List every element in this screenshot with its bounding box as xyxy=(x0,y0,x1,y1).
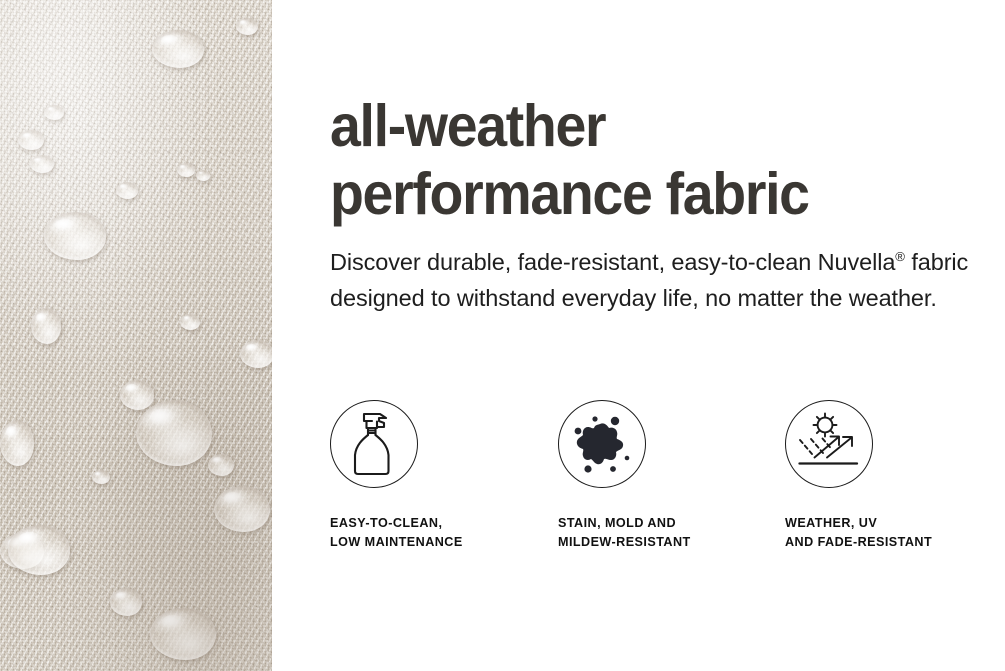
description-part-1: Discover durable, fade-resistant, easy-t… xyxy=(330,249,895,275)
promo-description: Discover durable, fade-resistant, easy-t… xyxy=(330,244,970,316)
promo-banner: all-weather performance fabric Discover … xyxy=(0,0,1005,671)
page-title: all-weather performance fabric xyxy=(330,92,950,228)
fabric-photo xyxy=(0,0,272,671)
stain-splat-icon xyxy=(558,400,646,488)
feature-label: EASY-TO-CLEAN, LOW MAINTENANCE xyxy=(330,514,540,552)
promo-content: all-weather performance fabric Discover … xyxy=(330,0,1005,671)
registered-trademark-symbol: ® xyxy=(895,249,905,264)
feature-label: STAIN, MOLD AND MILDEW-RESISTANT xyxy=(558,514,768,552)
feature-list: EASY-TO-CLEAN, LOW MAINTENANCE STAIN, M xyxy=(330,400,995,580)
feature-item-easy-to-clean: EASY-TO-CLEAN, LOW MAINTENANCE xyxy=(330,400,540,552)
feature-item-stain-resistant: STAIN, MOLD AND MILDEW-RESISTANT xyxy=(558,400,768,552)
spray-bottle-icon xyxy=(330,400,418,488)
feature-label: WEATHER, UV AND FADE-RESISTANT xyxy=(785,514,995,552)
fabric-lighting-overlay xyxy=(0,0,272,671)
feature-item-weather-resistant: WEATHER, UV AND FADE-RESISTANT xyxy=(785,400,995,552)
sun-uv-reflect-icon xyxy=(785,400,873,488)
